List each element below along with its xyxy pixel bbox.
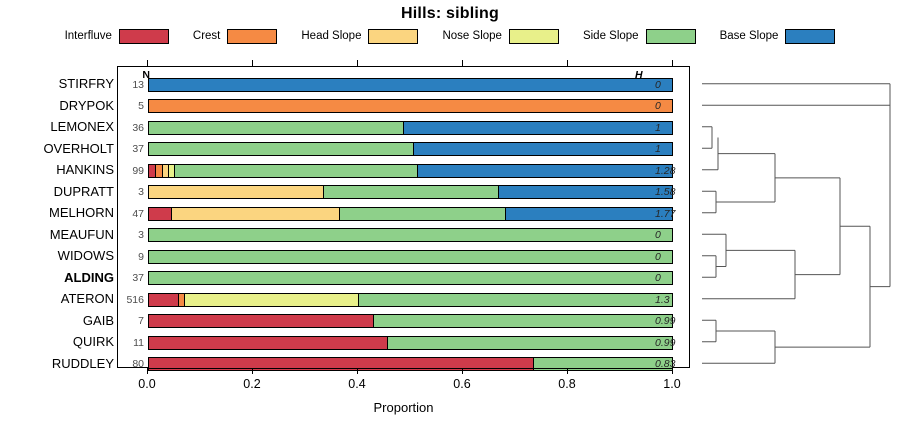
bar-segment-side-slope [149,229,672,241]
bar-segment-interfluve [149,315,373,327]
stacked-bar [148,293,673,307]
legend-item-nose-slope: Nose Slope [442,29,558,44]
x-axis-tick-top [672,60,673,66]
legend-item-head-slope: Head Slope [301,29,418,44]
bar-segment-crest [149,100,672,112]
row-h-value: 0.99 [655,315,689,327]
legend-item-swatch [119,29,169,44]
row-n-value: 9 [118,251,144,263]
table-row: 991.28 [118,160,691,182]
legend-item-label: Base Slope [720,30,786,42]
table-row: 130 [118,74,691,96]
table-row: 361 [118,117,691,139]
row-h-value: 1.58 [655,186,689,198]
bar-segment-base-slope [149,79,672,91]
legend-item-label: Nose Slope [442,30,508,42]
x-axis-tick [357,368,358,374]
bar-segment-side-slope [149,272,672,284]
x-axis-tick [567,368,568,374]
legend-item-label: Head Slope [301,30,368,42]
bar-segment-side-slope [358,294,672,306]
row-h-value: 1.3 [655,294,689,306]
row-label-drypok: DRYPOK [2,95,114,117]
page-title: Hills: sibling [0,5,900,23]
legend-spacer [418,36,442,37]
legend-item-crest: Crest [193,29,277,44]
x-axis-tick-top [252,60,253,66]
x-axis-tick-top [147,60,148,66]
x-axis-title: Proportion [117,400,690,415]
row-label-meaufun: MEAUFUN [2,224,114,246]
x-axis-tick-label: 0.6 [453,377,470,391]
stacked-bar [148,314,673,328]
row-n-value: 47 [118,208,144,220]
category-label-column: STIRFRYDRYPOKLEMONEXOVERHOLTHANKINSDUPRA… [0,66,114,368]
row-h-value: 1.28 [655,165,689,177]
legend-spacer [696,36,720,37]
row-h-value: 0.99 [655,337,689,349]
stacked-bar [148,357,673,371]
row-n-value: 37 [118,272,144,284]
bar-segment-head-slope [149,186,323,198]
row-h-value: 0 [655,251,689,263]
legend-spacer [277,36,301,37]
bar-segment-interfluve [149,208,171,220]
row-h-value: 1 [655,122,689,134]
legend-item-base-slope: Base Slope [720,29,836,44]
row-h-value: 0 [655,272,689,284]
table-row: 90 [118,246,691,268]
row-n-value: 3 [118,186,144,198]
table-row: 110.99 [118,332,691,354]
legend-item-swatch [646,29,696,44]
x-axis-tick-label: 0.0 [138,377,155,391]
legend-item-label: Side Slope [583,30,646,42]
row-h-value: 0 [655,229,689,241]
stacked-bar [148,121,673,135]
row-h-value: 0 [655,100,689,112]
stacked-bar [148,250,673,264]
row-n-value: 5 [118,100,144,112]
stacked-bar [148,99,673,113]
row-h-value: 1 [655,143,689,155]
row-n-value: 99 [118,165,144,177]
bar-segment-side-slope [149,143,413,155]
bar-segment-base-slope [403,122,672,134]
x-axis-tick-label: 1.0 [663,377,680,391]
table-row: 31.58 [118,182,691,204]
legend: InterfluveCrestHead SlopeNose SlopeSide … [0,26,900,46]
table-row: 800.83 [118,354,691,376]
legend-item-swatch [785,29,835,44]
legend-spacer [559,36,583,37]
row-n-value: 37 [118,143,144,155]
bar-segment-interfluve [149,337,387,349]
table-row: 50 [118,96,691,118]
table-row: 370 [118,268,691,290]
stacked-bar [148,336,673,350]
row-label-stirfry: STIRFRY [2,73,114,95]
row-n-value: 3 [118,229,144,241]
dendrogram [690,60,900,380]
table-row: 371 [118,139,691,161]
table-row: 70.99 [118,311,691,333]
row-n-value: 516 [118,294,144,306]
bar-segment-side-slope [174,165,417,177]
stacked-bar [148,78,673,92]
row-n-value: 13 [118,79,144,91]
row-label-dupratt: DUPRATT [2,181,114,203]
x-axis-tick-label: 0.4 [348,377,365,391]
row-label-melhorn: MELHORN [2,202,114,224]
legend-item-swatch [509,29,559,44]
bar-segment-interfluve [149,294,178,306]
x-axis-tick-top [462,60,463,66]
legend-item-label: Interfluve [65,30,119,42]
bar-segment-side-slope [373,315,672,327]
bar-segment-side-slope [149,122,403,134]
x-axis-tick-label: 0.8 [558,377,575,391]
stacked-bar [148,185,673,199]
x-axis-tick [462,368,463,374]
bar-segment-base-slope [498,186,672,198]
x-axis-tick-top [567,60,568,66]
row-h-value: 0 [655,79,689,91]
row-label-alding: ALDING [2,267,114,289]
row-label-gaib: GAIB [2,310,114,332]
table-row: 30 [118,225,691,247]
bar-segment-side-slope [339,208,504,220]
bar-segment-base-slope [417,165,672,177]
row-label-ruddley: RUDDLEY [2,353,114,375]
x-axis-line [147,368,672,369]
stacked-bar [148,142,673,156]
x-axis-tick-top [357,60,358,66]
row-label-quirk: QUIRK [2,331,114,353]
stacked-bar [148,271,673,285]
row-label-widows: WIDOWS [2,245,114,267]
row-n-value: 11 [118,337,144,349]
row-h-value: 1.77 [655,208,689,220]
x-axis-tick [252,368,253,374]
bar-segment-base-slope [413,143,672,155]
row-n-value: 36 [118,122,144,134]
x-axis-tick-label: 0.2 [243,377,260,391]
legend-item-swatch [227,29,277,44]
bar-segment-side-slope [387,337,672,349]
bar-segment-nose-slope [184,294,358,306]
x-axis-tick [147,368,148,374]
stacked-bar-panel: N H 13050361371991.2831.58471.7730903705… [117,66,690,368]
x-axis-tick [672,368,673,374]
bar-segment-head-slope [171,208,339,220]
row-label-ateron: ATERON [2,288,114,310]
bar-segment-side-slope [323,186,498,198]
legend-item-label: Crest [193,30,227,42]
table-row: 5161.3 [118,289,691,311]
x-axis: 0.00.20.40.60.81.0 [117,368,690,369]
stacked-bar [148,228,673,242]
stacked-bar [148,164,673,178]
legend-item-interfluve: Interfluve [65,29,169,44]
row-label-lemonex: LEMONEX [2,116,114,138]
row-label-overholt: OVERHOLT [2,138,114,160]
bar-segment-base-slope [505,208,672,220]
row-n-value: 7 [118,315,144,327]
legend-item-swatch [368,29,418,44]
legend-spacer [169,36,193,37]
stacked-bar [148,207,673,221]
legend-item-side-slope: Side Slope [583,29,696,44]
table-row: 471.77 [118,203,691,225]
row-label-hankins: HANKINS [2,159,114,181]
bar-segment-side-slope [149,251,672,263]
